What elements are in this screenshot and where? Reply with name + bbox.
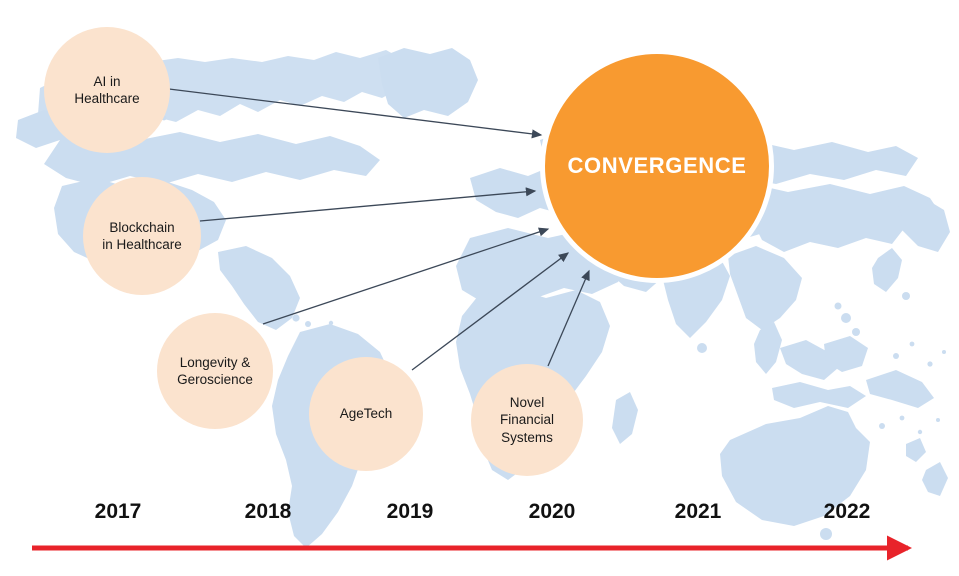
timeline-axis (0, 0, 959, 576)
diagram-canvas: CONVERGENCE AI in Healthcare Blockchain … (0, 0, 959, 576)
